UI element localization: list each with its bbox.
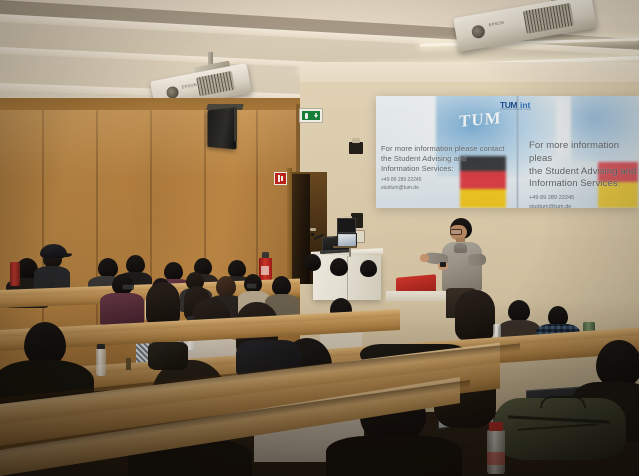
fire-equipment-sign (274, 172, 287, 185)
slide-tum-watermark: TUM (459, 108, 502, 132)
projector-left-vent (196, 71, 235, 97)
wall-left-sheen (0, 110, 300, 180)
slide-right-email: studium@tum.de (529, 203, 639, 208)
wall-monitor-upper (337, 218, 356, 233)
speaker-mount-arm (234, 107, 237, 141)
projection-screen: TUM TUM int TUM International Center For… (376, 96, 639, 208)
wall-device-upper-light (352, 138, 360, 143)
projector-left: EPSON (148, 52, 252, 104)
ceiling-speaker (203, 104, 245, 150)
water-bottle-cap (97, 344, 105, 349)
slide-left-line-3: Information Services: (381, 164, 505, 174)
emergency-exit-sign (299, 108, 323, 123)
water-bottle (96, 348, 106, 376)
slide-right-line-3: Information Services: (529, 178, 639, 191)
fire-sign-glyph (278, 175, 280, 182)
slide-text-right: For more information pleas the Student A… (529, 140, 639, 208)
tum-int-logo: TUM int TUM International Center (500, 100, 542, 114)
projector-left-brand: EPSON (181, 83, 197, 90)
presenter-glasses (450, 229, 462, 235)
slide-right-phone: +49 89 289 22245 (529, 194, 639, 202)
slide-right-line-2: the Student Advising and (529, 166, 639, 179)
speaker-enclosure (208, 108, 237, 150)
exit-figure-glyph (305, 113, 308, 119)
wall-device-upper (349, 142, 363, 154)
fire-sign-glyph-2 (281, 176, 283, 181)
water-bottle-cap-red (489, 422, 503, 431)
student-body-foreground (326, 436, 462, 476)
projector-right-lens (471, 24, 486, 39)
bag-dark (148, 342, 188, 370)
projector-right-vent (523, 3, 574, 34)
projector-right-brand: EPSON (489, 21, 505, 28)
red-bottle (10, 262, 20, 286)
slide-text-left: For more information please contact the … (381, 144, 505, 192)
water-bottle-label (487, 452, 505, 465)
lecture-hall-photo: EPSON EPSON (0, 0, 639, 476)
student-head-foreground (596, 340, 639, 388)
projector-right: EPSON (455, 0, 605, 44)
slide-right-line-1: For more information pleas (529, 140, 639, 166)
door-handle[interactable] (310, 228, 316, 231)
tum-logo-subtitle: TUM International Center (500, 109, 542, 112)
slide-left-email: studium@tum.de (381, 185, 505, 193)
slide-left-line-2: the Student Advising and (381, 154, 505, 164)
slide-left-line-1: For more information please contact (381, 144, 505, 154)
backpack-olive-handle (540, 396, 586, 408)
slide-left-phone: +49 89 289 22245 (381, 177, 505, 185)
